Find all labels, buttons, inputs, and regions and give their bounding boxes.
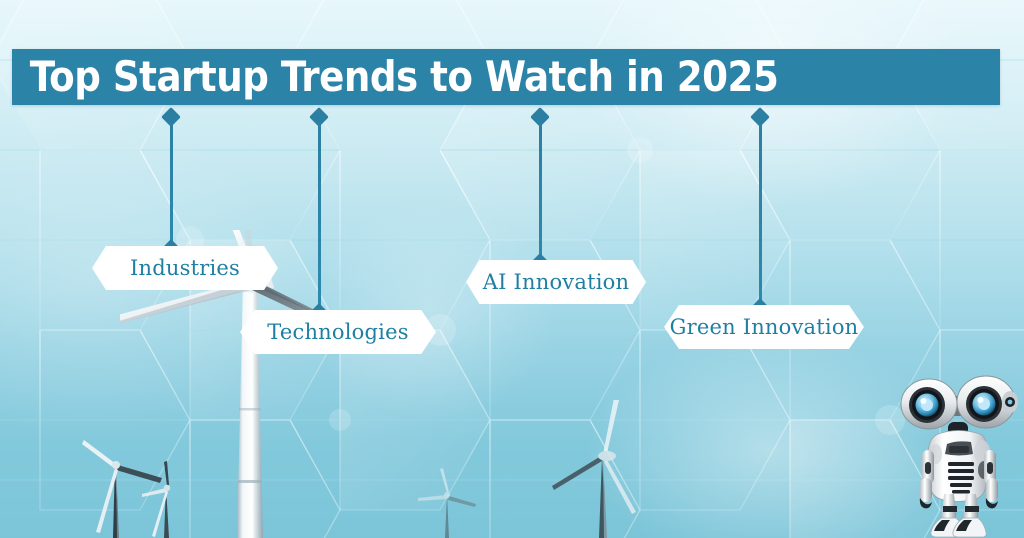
callout-technologies[interactable]: Technologies — [240, 310, 436, 354]
callout-industries[interactable]: Industries — [92, 246, 278, 290]
connector-line-ai-innovation — [530, 110, 550, 270]
callout-label: Industries — [124, 256, 246, 280]
connector-stem — [170, 116, 173, 250]
connector-line-industries — [161, 110, 181, 256]
wind-turbine-small-2 — [122, 460, 214, 538]
banner-title-bar: Top Startup Trends to Watch in 2025 — [12, 49, 1000, 105]
callout-label: Technologies — [261, 320, 414, 344]
diamond-marker-top — [161, 107, 181, 127]
wind-turbine-small-4 — [540, 400, 670, 538]
page-title: Top Startup Trends to Watch in 2025 — [12, 56, 778, 98]
diamond-marker-top — [750, 107, 770, 127]
diamond-marker-top — [309, 107, 329, 127]
connector-stem — [318, 116, 321, 314]
callout-green-innovation[interactable]: Green Innovation — [664, 305, 864, 349]
wind-turbine-small-1 — [52, 432, 182, 538]
callout-ai-innovation[interactable]: AI Innovation — [466, 260, 646, 304]
wind-turbine-small-3 — [404, 468, 490, 538]
diamond-marker-top — [530, 107, 550, 127]
light-bloom — [580, 330, 960, 538]
callout-label: Green Innovation — [664, 315, 865, 339]
connector-line-green-innovation — [750, 110, 770, 315]
robot-mascot — [898, 366, 1018, 538]
connector-stem — [539, 116, 542, 264]
callout-label: AI Innovation — [477, 270, 635, 294]
connector-line-technologies — [309, 110, 329, 320]
connector-stem — [759, 116, 762, 309]
banner-canvas: Industries Technologies AI Innovation Gr… — [0, 0, 1024, 538]
light-bloom — [560, 0, 980, 220]
